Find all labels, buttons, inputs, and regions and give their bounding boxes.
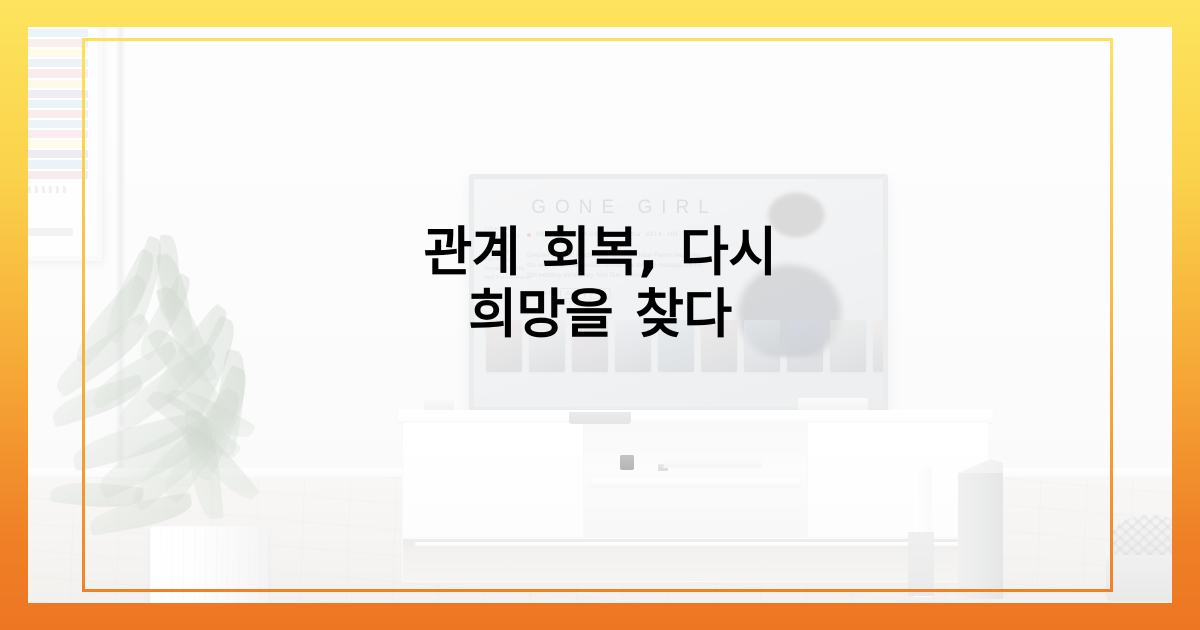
artwork-stripe-5	[28, 80, 88, 88]
page-title-line-1: 관계 회복, 다시	[0, 222, 1200, 284]
artwork-signature	[28, 186, 69, 193]
pouf-base	[1106, 555, 1172, 601]
artwork-stripe-3	[28, 59, 88, 67]
console-shelf-board	[591, 478, 800, 486]
artwork-stripe-11	[28, 140, 88, 148]
artwork-stripe-13	[28, 160, 88, 168]
artwork-stripes	[28, 29, 88, 179]
page-title: 관계 회복, 다시 희망을 찾다	[0, 222, 1200, 346]
artwork-stripe-9	[28, 120, 88, 128]
floor-speaker-tower	[958, 459, 1003, 599]
remote-control	[620, 455, 634, 470]
artwork-stripe-1	[28, 39, 88, 47]
tv-stand	[569, 412, 631, 424]
speaker-front-face	[958, 473, 1003, 599]
page-title-line-2: 희망을 찾다	[0, 284, 1200, 346]
console-body	[402, 422, 989, 538]
tv-movie-title: GONE GIRL	[531, 197, 718, 219]
artwork-stripe-2	[28, 49, 88, 57]
console-open-shelf	[584, 423, 806, 537]
artwork-stripe-6	[28, 90, 88, 98]
laptop-on-shelf	[663, 459, 763, 468]
artwork-stripe-14	[28, 171, 88, 179]
artwork-stripe-10	[28, 130, 88, 138]
artwork-stripe-8	[28, 110, 88, 118]
thumbnail-canvas: GONE GIRL 88% 17+ 2 hr 29 min Drama 2014…	[0, 0, 1200, 630]
artwork-stripe-12	[28, 150, 88, 158]
artwork-stripe-0	[28, 29, 88, 37]
plant-pot	[150, 526, 268, 603]
artwork-stripe-4	[28, 69, 88, 77]
console-left-cabinet	[403, 423, 584, 537]
artwork-stripe-7	[28, 100, 88, 108]
right-low-furniture	[908, 532, 934, 596]
tv-console	[398, 410, 993, 585]
knitted-pouf	[1106, 515, 1172, 600]
console-plinth	[402, 538, 989, 582]
